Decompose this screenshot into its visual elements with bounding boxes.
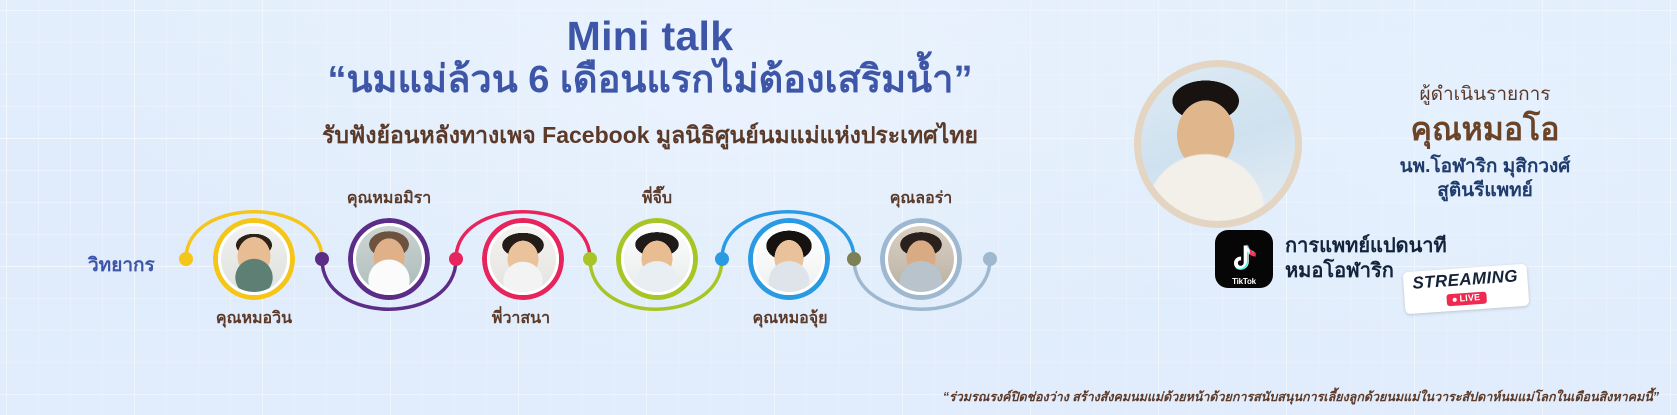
header-block: Mini talk “นมแม่ล้วน 6 เดือนแรกไม่ต้องเส… <box>180 14 1120 154</box>
live-dot-icon <box>1452 297 1456 301</box>
speaker-avatar-4[interactable] <box>616 218 698 300</box>
speaker-name-1: คุณหมอวิน <box>216 306 292 331</box>
timeline-node-6 <box>847 252 861 266</box>
host-nickname: คุณหมอโอ <box>1320 109 1650 149</box>
streaming-badge: STREAMING LIVE <box>1403 264 1529 315</box>
speaker-ring-inner-3 <box>487 223 559 295</box>
timeline-node-2 <box>315 252 329 266</box>
speaker-ring-inner-1 <box>218 223 290 295</box>
speaker-timeline: วิทยากร คุณหมอวิน คุณหมอมิรา พี่วาสนา <box>0 178 1060 348</box>
speaker-photo-6 <box>888 226 954 292</box>
tiktok-wordmark: TikTok <box>1215 277 1273 286</box>
tiktok-icon[interactable]: TikTok <box>1215 230 1273 288</box>
speaker-name-2: คุณหมอมิรา <box>347 186 431 211</box>
speaker-ring-inner-2 <box>353 223 425 295</box>
speaker-name-3: พี่วาสนา <box>492 306 550 331</box>
speaker-ring-inner-5 <box>753 223 825 295</box>
host-panel: ผู้ดำเนินรายการ คุณหมอโอ นพ.โอฬาริก มุสิ… <box>1130 54 1670 254</box>
speaker-photo-1 <box>221 226 287 292</box>
live-label: LIVE <box>1459 292 1480 303</box>
host-text-block: ผู้ดำเนินรายการ คุณหมอโอ นพ.โอฬาริก มุสิ… <box>1320 84 1650 204</box>
speaker-photo-2 <box>356 226 422 292</box>
streaming-label: STREAMING <box>1412 267 1519 291</box>
speaker-name-4: พี่จี๊บ <box>642 186 672 211</box>
rebroadcast-note: รับฟังย้อนหลังทางเพจ Facebook มูลนิธิศูน… <box>180 118 1120 154</box>
timeline-node-4 <box>583 252 597 266</box>
host-photo <box>1141 67 1295 221</box>
host-role-label: ผู้ดำเนินรายการ <box>1320 84 1650 107</box>
speaker-name-5: คุณหมอจุ้ย <box>753 306 828 331</box>
speaker-avatar-3[interactable] <box>482 218 564 300</box>
timeline-node-5 <box>715 252 729 266</box>
speaker-avatar-6[interactable] <box>880 218 962 300</box>
speaker-ring-inner-6 <box>885 223 957 295</box>
speaker-photo-4 <box>624 226 690 292</box>
tiktok-note-glyph <box>1231 244 1257 272</box>
speaker-photo-5 <box>756 226 822 292</box>
speaker-avatar-5[interactable] <box>748 218 830 300</box>
page-title: Mini talk <box>180 14 1120 60</box>
promo-banner: Mini talk “นมแม่ล้วน 6 เดือนแรกไม่ต้องเส… <box>0 0 1677 415</box>
headline-text: “นมแม่ล้วน 6 เดือนแรกไม่ต้องเสริมน้ำ” <box>180 58 1120 104</box>
host-fullname: นพ.โอฬาริก มุสิกวงศ์ <box>1320 155 1650 180</box>
speaker-photo-3 <box>490 226 556 292</box>
host-specialty: สูตินรีแพทย์ <box>1320 179 1650 204</box>
speakers-role-label: วิทยากร <box>88 250 155 280</box>
timeline-node-7 <box>983 252 997 266</box>
timeline-node-3 <box>449 252 463 266</box>
footer-caption: “ร่วมรณรงค์ปิดช่องว่าง สร้างสังคมนมแม่ด้… <box>943 387 1659 407</box>
tiktok-svg <box>1231 244 1257 272</box>
channel-name-line1: การแพทย์แปดนาที <box>1285 234 1447 259</box>
speaker-avatar-1[interactable] <box>213 218 295 300</box>
host-avatar[interactable] <box>1134 60 1302 228</box>
speaker-name-6: คุณลอร่า <box>890 186 953 211</box>
timeline-node-1 <box>179 252 193 266</box>
speaker-ring-inner-4 <box>621 223 693 295</box>
speaker-avatar-2[interactable] <box>348 218 430 300</box>
live-badge: LIVE <box>1446 292 1487 307</box>
